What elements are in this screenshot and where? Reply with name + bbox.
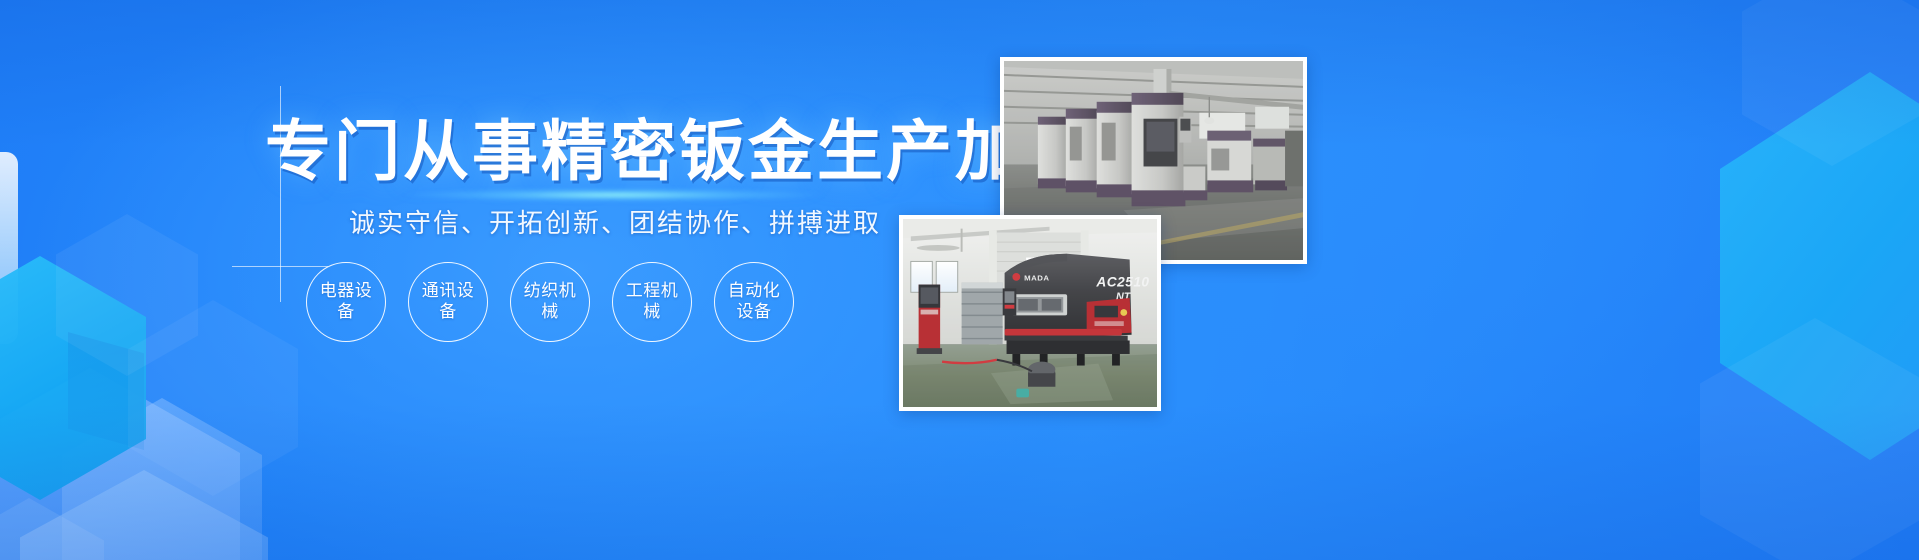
badge-label: 电器设备 — [315, 281, 377, 322]
headline-glow-decor — [300, 188, 870, 202]
badge-electrical-equipment[interactable]: 电器设备 — [306, 262, 386, 342]
badge-textile-machinery[interactable]: 纺织机械 — [510, 262, 590, 342]
badge-automation-equipment[interactable]: 自动化设备 — [714, 262, 794, 342]
badge-label: 纺织机械 — [519, 281, 581, 322]
badge-label: 通讯设备 — [417, 281, 479, 322]
photo-amada-punch-press[interactable]: MADA AC2510 NT — [899, 215, 1161, 411]
category-badge-list: 电器设备 通讯设备 纺织机械 工程机械 自动化设备 — [306, 262, 794, 342]
badge-communication-equipment[interactable]: 通讯设备 — [408, 262, 488, 342]
badge-label: 自动化设备 — [723, 281, 785, 322]
promo-banner: 专门从事精密钣金生产加工 诚实守信、开拓创新、团结协作、拼搏进取 电器设备 通讯… — [0, 0, 1919, 560]
page-subtitle: 诚实守信、开拓创新、团结协作、拼搏进取 — [349, 207, 881, 240]
photo-amada-artwork: MADA AC2510 NT — [903, 219, 1157, 407]
page-title: 专门从事精密钣金生产加工 — [265, 118, 1093, 184]
badge-label: 工程机械 — [621, 281, 683, 322]
badge-engineering-machinery[interactable]: 工程机械 — [612, 262, 692, 342]
